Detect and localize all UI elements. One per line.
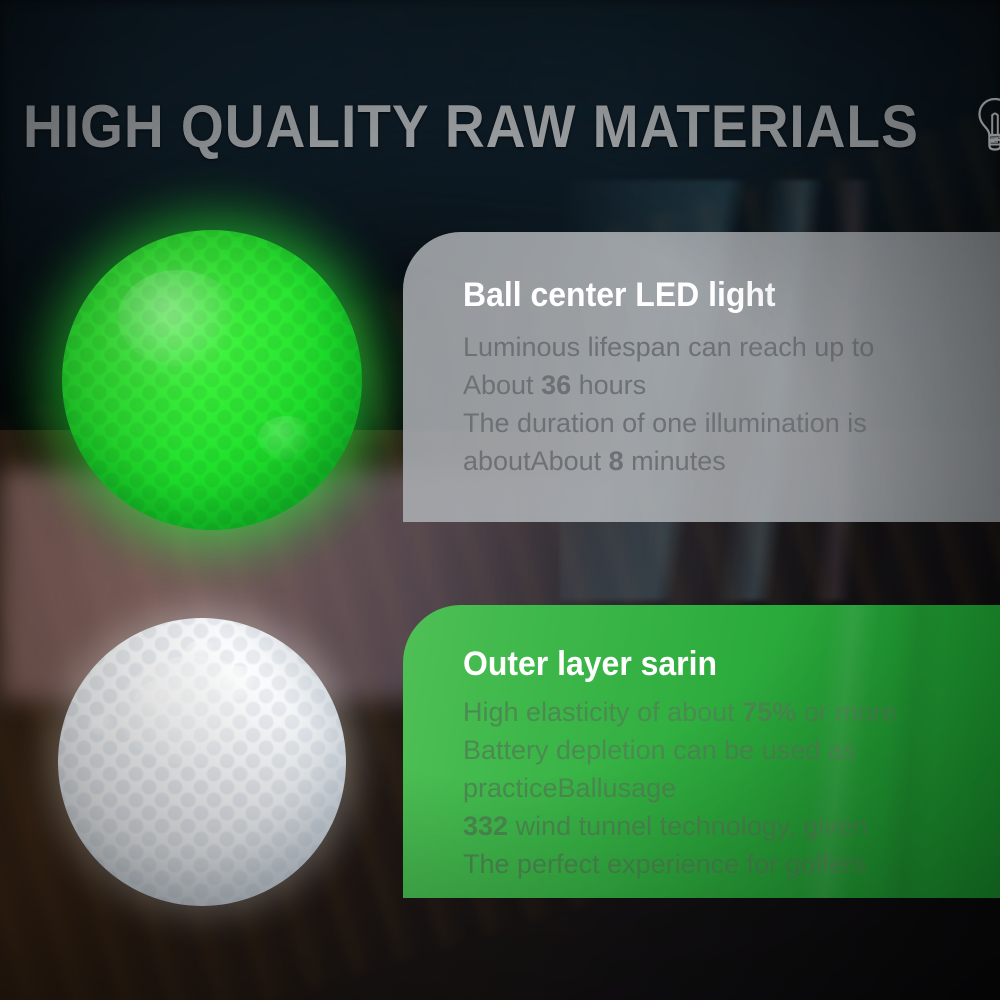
body-line: 332 wind tunnel technology, given	[463, 807, 983, 845]
panel-heading: Outer layer sarin	[463, 647, 717, 681]
body-line: Battery depletion can be used as	[463, 731, 983, 769]
body-line: About 36 hours	[463, 366, 983, 404]
panel-outer-layer-sarin: Outer layer sarin High elasticity of abo…	[403, 605, 1000, 898]
panel-ball-center-led-light: Ball center LED light Luminous lifespan …	[403, 232, 1000, 522]
golf-ball-dimples	[62, 230, 362, 530]
panel-body: High elasticity of about 75% or more Bat…	[463, 693, 983, 883]
panel-body: Luminous lifespan can reach up to About …	[463, 328, 983, 480]
body-line: The perfect experience for golfers	[463, 845, 983, 883]
body-line: Luminous lifespan can reach up to	[463, 328, 983, 366]
lightbulb-icon	[974, 96, 1000, 154]
page-title: HIGH QUALITY RAW MATERIALS	[23, 97, 919, 157]
body-line: aboutAbout 8 minutes	[463, 442, 983, 480]
infographic-canvas: HIGH QUALITY RAW MATERIALS Ball center L…	[0, 0, 1000, 1000]
white-golf-ball	[58, 618, 346, 906]
golf-ball-dimples	[58, 618, 346, 906]
glowing-green-golf-ball	[62, 230, 362, 530]
body-line: practiceBallusage	[463, 769, 983, 807]
body-line: The duration of one illumination is	[463, 404, 983, 442]
body-line: High elasticity of about 75% or more	[463, 693, 983, 731]
page-title-row: HIGH QUALITY RAW MATERIALS	[0, 92, 1000, 162]
panel-heading: Ball center LED light	[463, 278, 776, 312]
